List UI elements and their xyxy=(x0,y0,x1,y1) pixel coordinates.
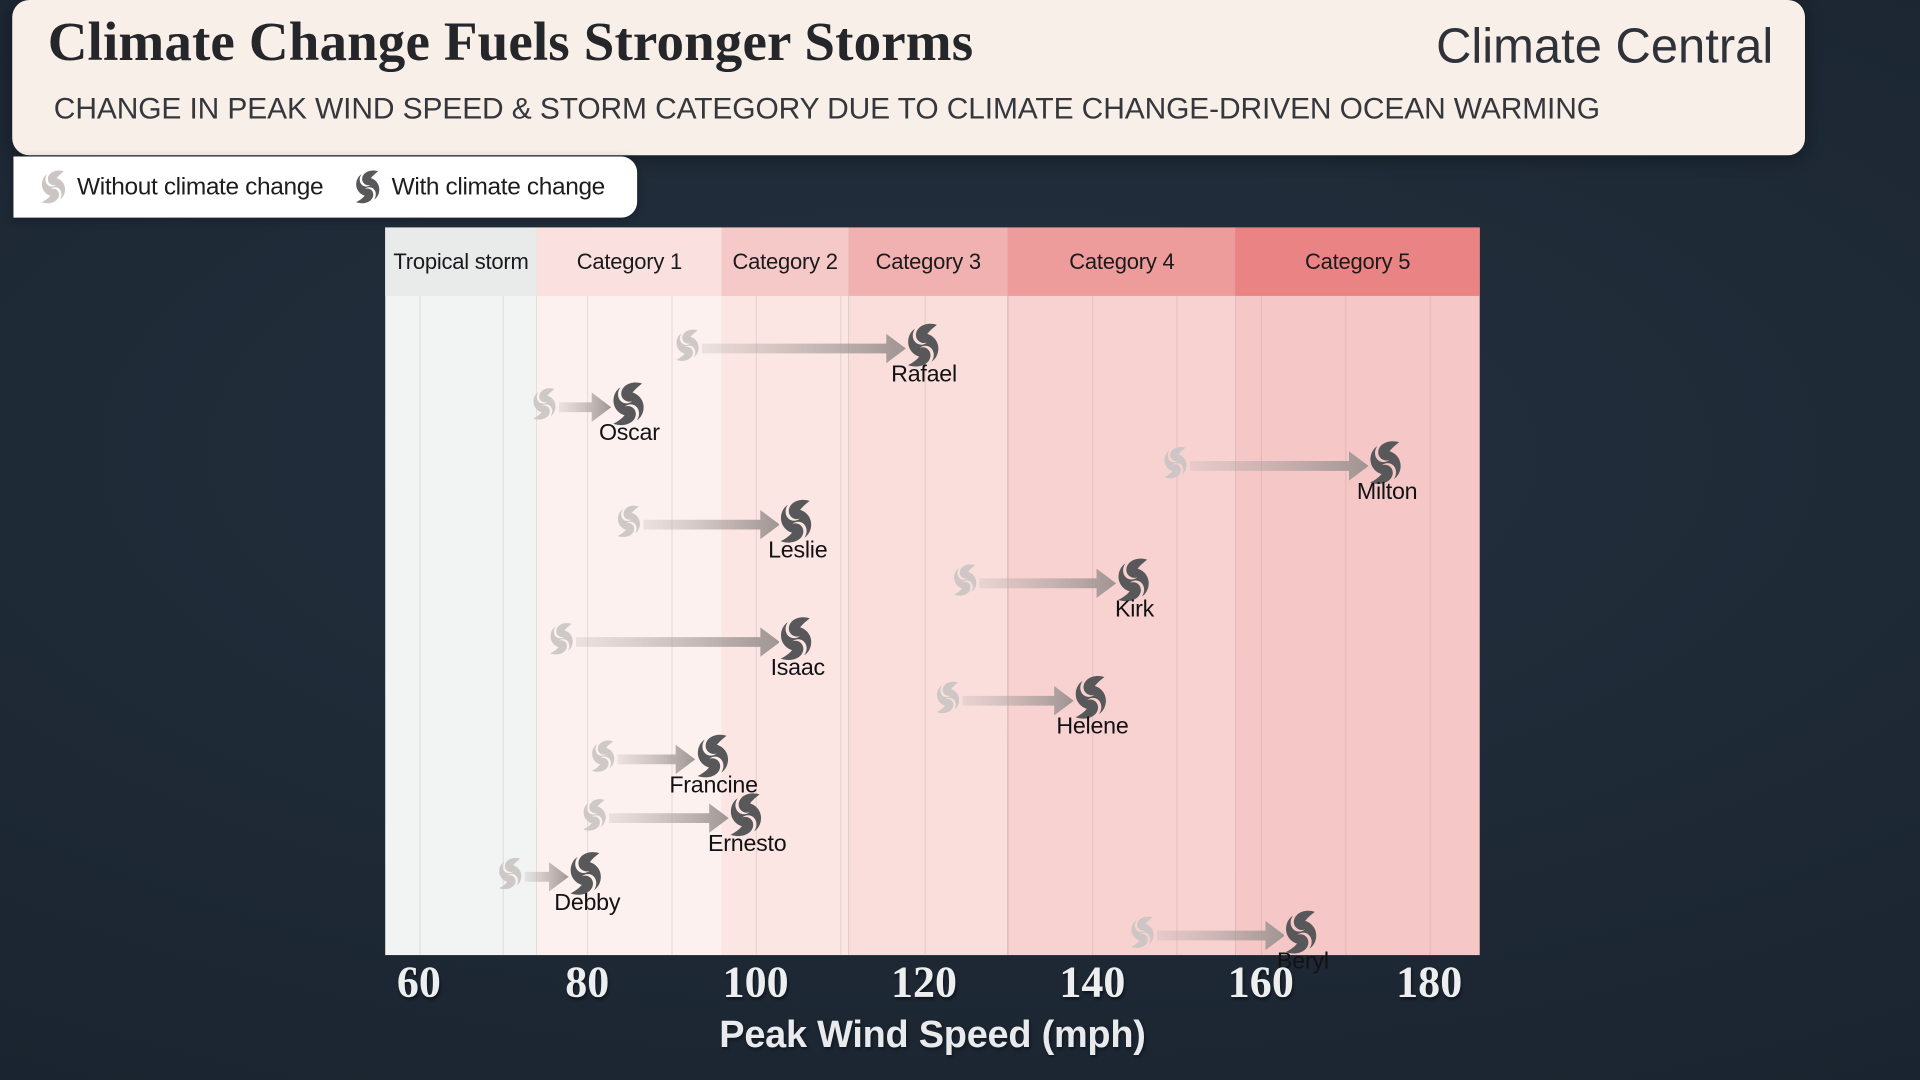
category-header-category-3: Category 3 xyxy=(848,227,1008,295)
change-arrow xyxy=(1190,450,1369,482)
x-tick-label: 120 xyxy=(891,956,957,1007)
hurricane-icon xyxy=(40,169,68,206)
legend-label: With climate change xyxy=(392,173,605,201)
plot-area: Tropical stormCategory 1Category 2Catego… xyxy=(385,227,1479,955)
change-arrow xyxy=(559,391,611,423)
hurricane-icon xyxy=(532,387,559,422)
hurricane-icon xyxy=(355,169,383,206)
category-label: Category 3 xyxy=(876,249,981,275)
change-arrow xyxy=(643,509,780,541)
category-label: Category 1 xyxy=(577,249,682,275)
category-label: Category 4 xyxy=(1069,249,1174,275)
hurricane-icon xyxy=(953,563,980,598)
category-header-tropical-storm: Tropical storm xyxy=(385,227,537,295)
change-arrow xyxy=(609,802,729,834)
hurricane-icon xyxy=(1163,445,1190,480)
x-axis-title: Peak Wind Speed (mph) xyxy=(385,1013,1479,1057)
legend-item-with-climate-change[interactable]: With climate change xyxy=(355,169,605,206)
storm-icon-without xyxy=(936,680,963,721)
hurricane-icon xyxy=(591,739,618,774)
storm-icon-without xyxy=(591,739,618,780)
category-label: Category 5 xyxy=(1305,249,1410,275)
storm-icon-without xyxy=(532,387,559,428)
hurricane-icon xyxy=(936,680,963,715)
storm-icon-without xyxy=(549,621,576,662)
x-axis-ticks: 6080100120140160180 xyxy=(385,956,1479,1012)
header-card: Climate Change Fuels Stronger Storms Cli… xyxy=(12,0,1805,155)
x-tick-label: 160 xyxy=(1228,956,1294,1007)
chart-stage: Climate Change Fuels Stronger Storms Cli… xyxy=(0,0,1920,1079)
hurricane-icon xyxy=(1129,915,1156,950)
hurricane-icon xyxy=(582,798,609,833)
x-tick-label: 60 xyxy=(397,956,441,1007)
change-arrow xyxy=(980,567,1117,599)
change-arrow xyxy=(702,333,906,365)
category-header-category-5: Category 5 xyxy=(1236,227,1480,295)
storm-icon-without xyxy=(498,856,525,897)
storm-icon-without xyxy=(1163,445,1190,486)
brand-label: Climate Central xyxy=(1436,20,1773,75)
storm-icon-without xyxy=(616,504,643,545)
storm-icon-without xyxy=(953,563,980,604)
storm-icon-without xyxy=(675,328,702,369)
page-title: Climate Change Fuels Stronger Storms xyxy=(48,10,974,74)
x-tick-label: 80 xyxy=(565,956,609,1007)
category-header-category-4: Category 4 xyxy=(1008,227,1235,295)
category-header-category-2: Category 2 xyxy=(722,227,848,295)
legend-item-without-climate-change[interactable]: Without climate change xyxy=(40,169,323,206)
storm-icon-without xyxy=(1129,915,1156,956)
change-arrow xyxy=(525,861,569,893)
change-arrow xyxy=(963,685,1074,717)
category-header-category-1: Category 1 xyxy=(537,227,722,295)
category-label: Tropical storm xyxy=(393,249,528,275)
hurricane-icon xyxy=(675,328,702,363)
page-subtitle: CHANGE IN PEAK WIND SPEED & STORM CATEGO… xyxy=(54,93,1600,127)
category-label: Category 2 xyxy=(732,249,837,275)
hurricane-icon xyxy=(616,504,643,539)
legend-label: Without climate change xyxy=(77,173,323,201)
hurricane-icon xyxy=(549,621,576,656)
change-arrow xyxy=(1156,920,1284,952)
x-tick-label: 140 xyxy=(1059,956,1125,1007)
change-arrow xyxy=(575,626,779,658)
x-tick-label: 100 xyxy=(723,956,789,1007)
category-header-bar: Tropical stormCategory 1Category 2Catego… xyxy=(385,227,1479,295)
change-arrow xyxy=(618,744,696,776)
legend: Without climate change With climate chan… xyxy=(13,157,636,218)
hurricane-icon xyxy=(498,856,525,891)
storm-icon-without xyxy=(582,798,609,839)
x-tick-label: 180 xyxy=(1396,956,1462,1007)
